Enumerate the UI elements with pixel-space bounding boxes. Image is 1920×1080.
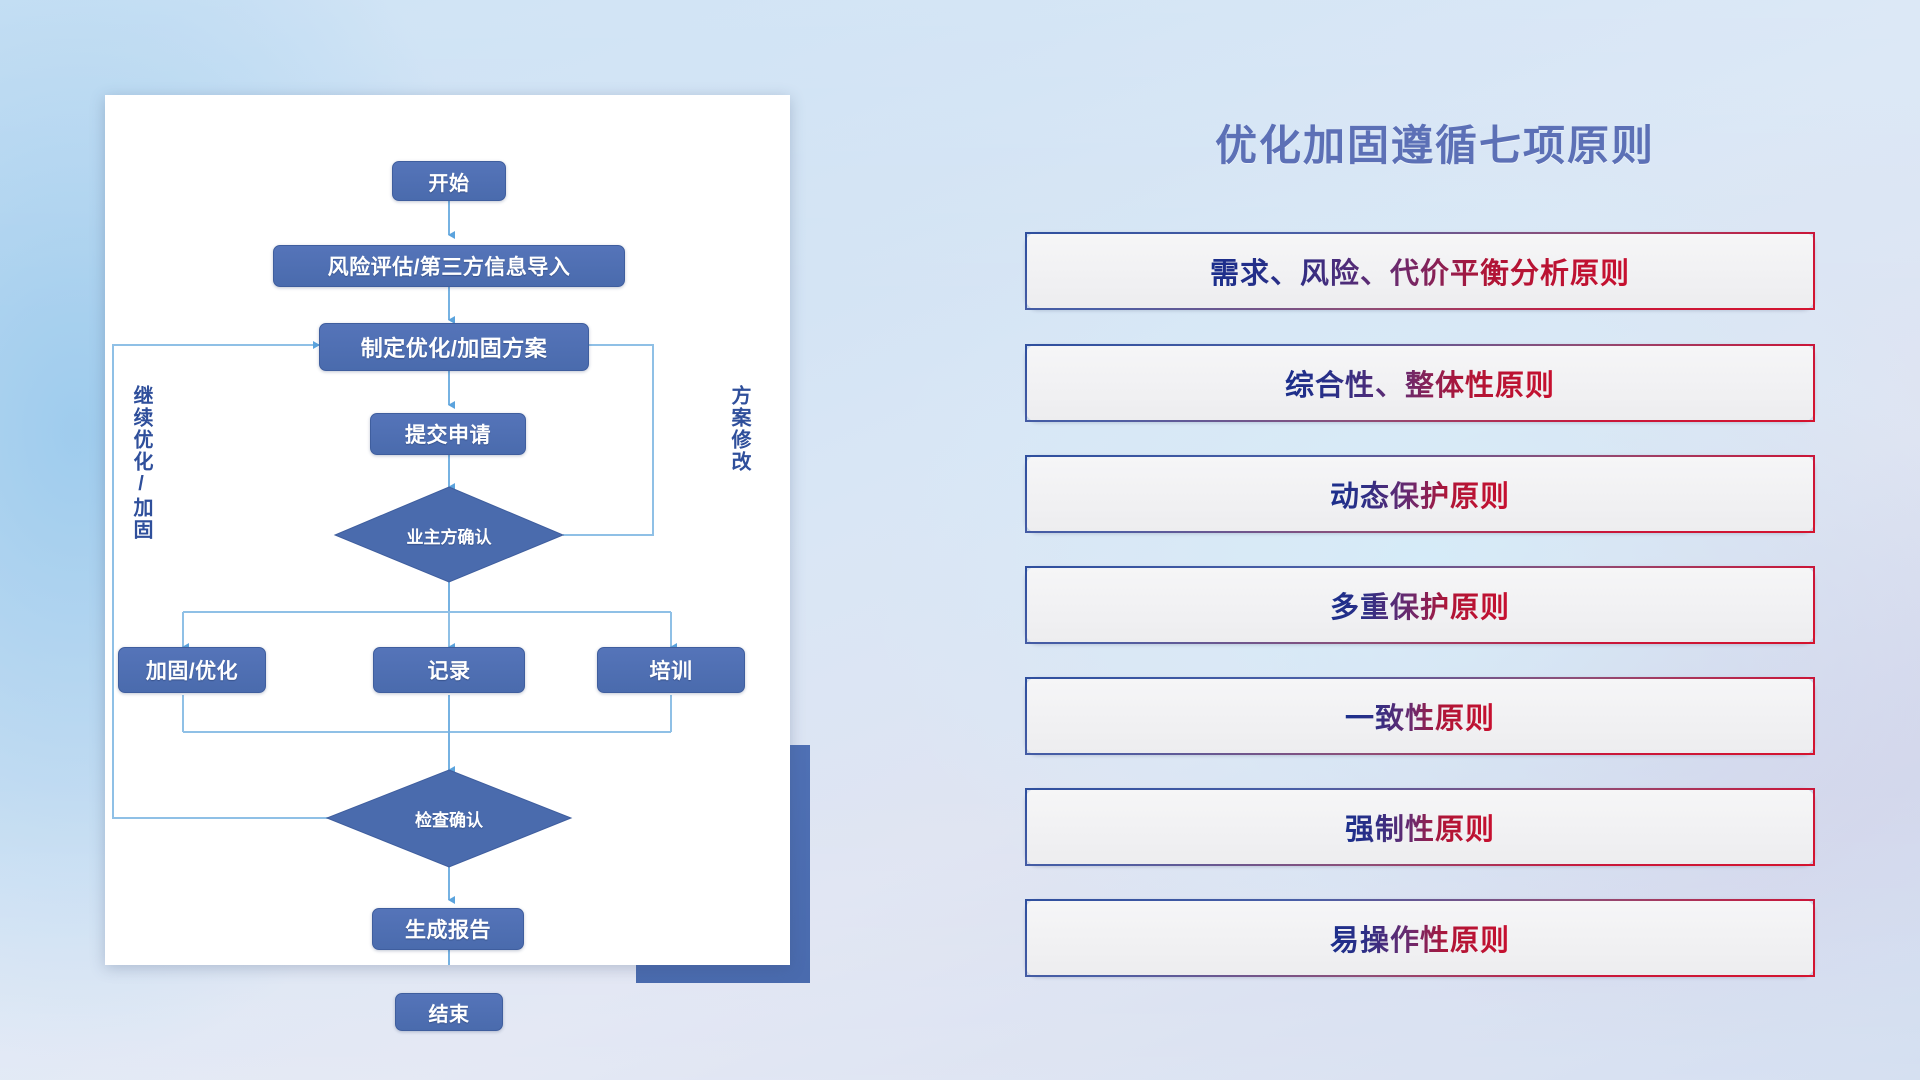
- flow-node-end[interactable]: 结束: [395, 993, 503, 1031]
- flow-node-start[interactable]: 开始: [392, 161, 506, 201]
- principle-item-5[interactable]: 一致性原则: [1025, 677, 1815, 755]
- flow-node-label: 业主方确认: [407, 523, 492, 548]
- flow-node-make-plan[interactable]: 制定优化/加固方案: [319, 323, 589, 371]
- flow-node-record[interactable]: 记录: [373, 647, 525, 693]
- principle-label: 需求、风险、代价平衡分析原则: [1210, 250, 1630, 292]
- flow-node-label: 制定优化/加固方案: [361, 331, 548, 363]
- flow-node-owner-confirm[interactable]: 业主方确认: [367, 519, 531, 551]
- principle-label: 综合性、整体性原则: [1285, 362, 1555, 404]
- principle-label: 动态保护原则: [1330, 473, 1510, 515]
- principle-label: 一致性原则: [1345, 695, 1495, 737]
- principle-label: 多重保护原则: [1330, 584, 1510, 626]
- principle-item-3[interactable]: 动态保护原则: [1025, 455, 1815, 533]
- flow-node-label: 培训: [650, 655, 693, 685]
- flow-node-training[interactable]: 培训: [597, 647, 745, 693]
- flow-node-label: 检查确认: [415, 806, 483, 831]
- flow-node-label: 开始: [429, 167, 470, 196]
- flow-node-reinforce[interactable]: 加固/优化: [118, 647, 266, 693]
- edge-label-continue-optimize: 继续优化/加固: [130, 385, 151, 541]
- flow-node-label: 提交申请: [405, 419, 491, 449]
- flow-node-risk-assessment[interactable]: 风险评估/第三方信息导入: [273, 245, 625, 287]
- principle-item-1[interactable]: 需求、风险、代价平衡分析原则: [1025, 232, 1815, 310]
- principles-panel: 优化加固遵循七项原则 需求、风险、代价平衡分析原则 综合性、整体性原则 动态保护…: [1020, 90, 1850, 1020]
- principle-item-4[interactable]: 多重保护原则: [1025, 566, 1815, 644]
- flowchart: 开始 风险评估/第三方信息导入 制定优化/加固方案 提交申请 业主方确认 加固/…: [105, 95, 790, 965]
- flow-node-check-confirm[interactable]: 检查确认: [367, 802, 531, 834]
- flow-node-submit-application[interactable]: 提交申请: [370, 413, 526, 455]
- flow-node-label: 记录: [428, 655, 471, 685]
- flow-node-label: 结束: [429, 998, 470, 1027]
- principle-label: 强制性原则: [1345, 806, 1495, 848]
- panel-title: 优化加固遵循七项原则: [1020, 112, 1850, 173]
- principle-item-2[interactable]: 综合性、整体性原则: [1025, 344, 1815, 422]
- principle-label: 易操作性原则: [1330, 917, 1510, 959]
- flow-node-label: 加固/优化: [146, 655, 238, 685]
- principle-item-6[interactable]: 强制性原则: [1025, 788, 1815, 866]
- flow-node-generate-report[interactable]: 生成报告: [372, 908, 524, 950]
- flow-node-label: 生成报告: [405, 914, 491, 944]
- flow-node-label: 风险评估/第三方信息导入: [328, 251, 571, 281]
- principle-item-7[interactable]: 易操作性原则: [1025, 899, 1815, 977]
- edge-label-plan-revision: 方案修改: [728, 385, 749, 473]
